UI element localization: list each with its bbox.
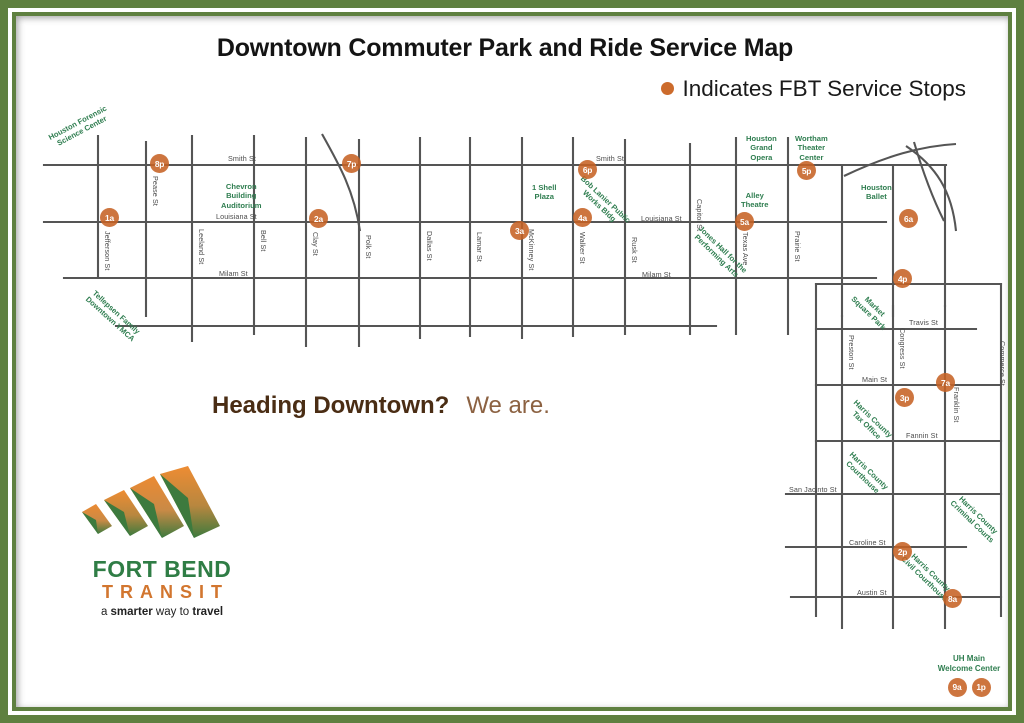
street-label: Leeland St [198, 229, 205, 264]
street-label: Dallas St [426, 231, 433, 261]
service-stop-marker[interactable]: 5p [797, 161, 816, 180]
landmark-label: Houston Grand Opera [746, 134, 777, 162]
street-label: Rusk St [631, 237, 638, 263]
street-label: Smith St [596, 155, 624, 162]
service-stop-marker[interactable]: 1a [100, 208, 119, 227]
service-stop-marker[interactable]: 9a [948, 678, 967, 697]
service-stop-marker[interactable]: 3p [895, 388, 914, 407]
street-label: Smith St [228, 155, 256, 162]
street-label: Lamar St [476, 232, 483, 262]
landmark-line: Center [795, 153, 828, 162]
tagline-answer: We are. [466, 392, 550, 419]
landmark-line: Building [221, 191, 262, 200]
landmark-line: 1 Shell [532, 183, 556, 192]
logo-tagline-smarter: smarter [111, 606, 153, 618]
landmark-line: Grand [746, 143, 777, 152]
landmark-line: Houston [861, 183, 892, 192]
service-stop-marker[interactable]: 2p [893, 542, 912, 561]
service-stop-marker[interactable]: 4a [573, 208, 592, 227]
uh-label-line: Welcome Center [921, 664, 1008, 674]
service-stop-marker[interactable]: 3a [510, 221, 529, 240]
landmark-line: Alley [741, 191, 768, 200]
street-label: Bell St [260, 230, 267, 251]
street-label: McKinney St [528, 229, 535, 270]
chevron-arrows-icon [74, 464, 250, 556]
tagline: Heading Downtown?We are. [212, 392, 550, 420]
street-label: Austin St [857, 589, 887, 596]
landmark-line: Chevron [221, 182, 262, 191]
landmark-line: Wortham [795, 134, 828, 143]
street-label: Texas Ave [742, 232, 749, 266]
service-stop-marker[interactable]: 8a [943, 589, 962, 608]
landmark-line: Plaza [532, 192, 556, 201]
logo-tagline: a smarter way to travel [74, 606, 250, 618]
service-stop-marker[interactable]: 6a [899, 209, 918, 228]
street-label: Polk St [365, 235, 372, 258]
landmark-line: Houston [746, 134, 777, 143]
street-label: Main St [862, 376, 887, 383]
service-stop-marker[interactable]: 7p [342, 154, 361, 173]
landmark-label: Alley Theatre [741, 191, 768, 210]
fort-bend-transit-logo: FORT BEND TRANSIT a smarter way to trave… [74, 464, 250, 620]
street-label: Milam St [642, 271, 671, 278]
uh-label-line: UH Main [921, 654, 1008, 664]
street-label: San Jacinto St [789, 486, 837, 493]
logo-wordmark-transit: TRANSIT [74, 582, 250, 603]
street-label: Commerce St [999, 341, 1006, 386]
service-stop-marker[interactable]: 1p [972, 678, 991, 697]
street-label: Louisiana St [641, 215, 682, 222]
logo-tagline-travel: travel [192, 606, 223, 618]
map-canvas: Downtown Commuter Park and Ride Service … [16, 16, 1008, 707]
landmark-line: Theatre [741, 200, 768, 209]
service-stop-marker[interactable]: 5a [735, 212, 754, 231]
street-label: Clay St [312, 232, 319, 256]
logo-wordmark-fort-bend: FORT BEND [74, 556, 250, 583]
service-stop-marker[interactable]: 2a [309, 209, 328, 228]
poster-frame: Downtown Commuter Park and Ride Service … [0, 0, 1024, 723]
landmark-line: Theater [795, 143, 828, 152]
service-stop-marker[interactable]: 8p [150, 154, 169, 173]
street-label: Pease St [152, 176, 159, 206]
street-label: Preston St [848, 335, 855, 370]
landmark-label: Houston Ballet [861, 183, 892, 202]
landmark-line: Ballet [861, 192, 892, 201]
service-stop-marker[interactable]: 7a [936, 373, 955, 392]
street-label: Jefferson St [104, 231, 111, 270]
logo-tagline-pre: a [101, 606, 111, 618]
service-stop-marker[interactable]: 4p [893, 269, 912, 288]
street-label: Congress St [899, 328, 906, 369]
street-label: Travis St [909, 319, 938, 326]
street-label: Franklin St [953, 387, 960, 422]
landmark-line: Auditorium [221, 201, 262, 210]
landmark-line: Opera [746, 153, 777, 162]
landmark-label: Chevron Building Auditorium [221, 182, 262, 210]
street-label: Prairie St [794, 231, 801, 262]
street-label: Walker St [579, 232, 586, 264]
uh-main-welcome-center-block: UH Main Welcome Center 9a 1p [921, 654, 1008, 697]
street-label: Fannin St [906, 432, 938, 439]
street-label: Caroline St [849, 539, 886, 546]
landmark-label: Wortham Theater Center [795, 134, 828, 162]
uh-stop-row: 9a 1p [921, 678, 1008, 697]
service-stop-marker[interactable]: 6p [578, 160, 597, 179]
street-label: Milam St [219, 270, 248, 277]
logo-tagline-mid: way to [153, 606, 193, 618]
tagline-question: Heading Downtown? [212, 392, 449, 419]
landmark-label: 1 Shell Plaza [532, 183, 556, 202]
street-label: Louisiana St [216, 213, 257, 220]
